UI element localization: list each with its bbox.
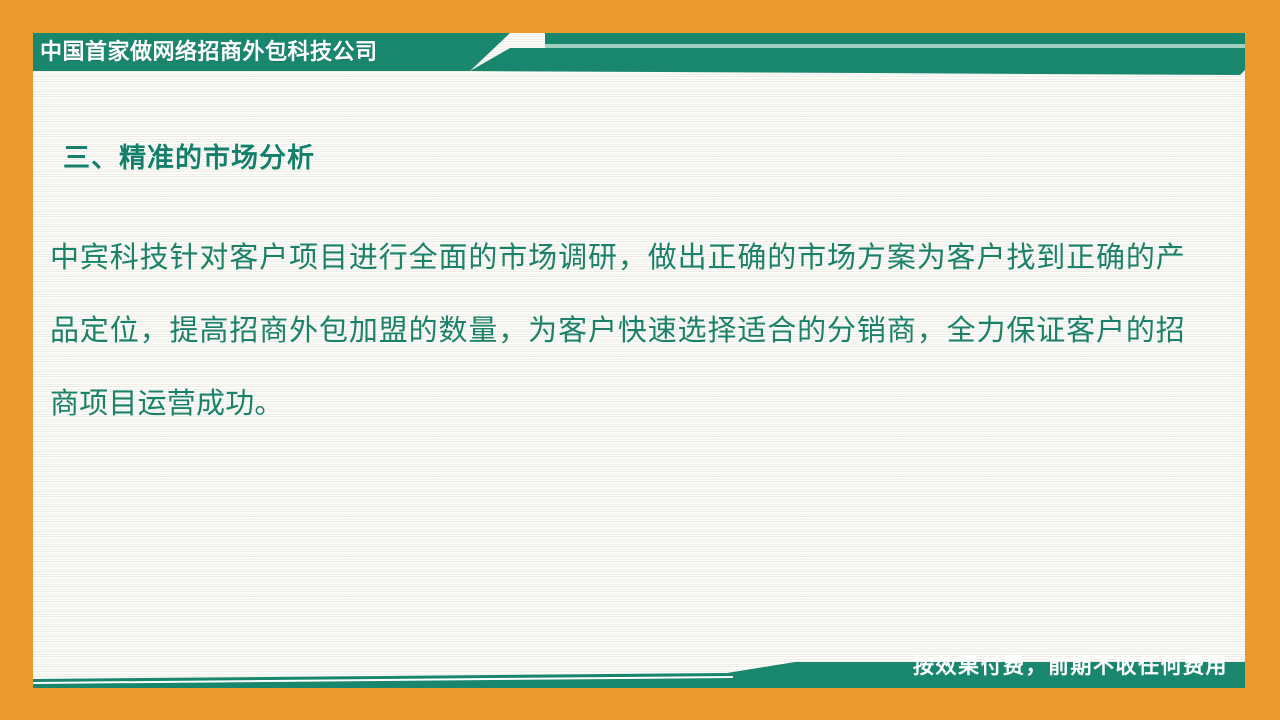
- frame-left-edge-bottom: [0, 610, 33, 720]
- page-title: 三、精准的市场分析: [63, 136, 315, 175]
- frame-right-edge: [1245, 0, 1280, 120]
- frame-right-edge-bottom: [1245, 610, 1280, 720]
- frame-left-edge: [0, 0, 33, 120]
- body-paragraph: 中宾科技针对客户项目进行全面的市场调研，做出正确的市场方案为客户找到正确的产品定…: [50, 222, 1185, 441]
- frame-bottom-edge: [0, 688, 1280, 720]
- slide-root: 中国首家做网络招商外包科技公司 三、精准的市场分析 中宾科技针对客户项目进行全面…: [0, 0, 1280, 720]
- body-paragraph-text: 中宾科技针对客户项目进行全面的市场调研，做出正确的市场方案为客户找到正确的产品定…: [50, 222, 1185, 441]
